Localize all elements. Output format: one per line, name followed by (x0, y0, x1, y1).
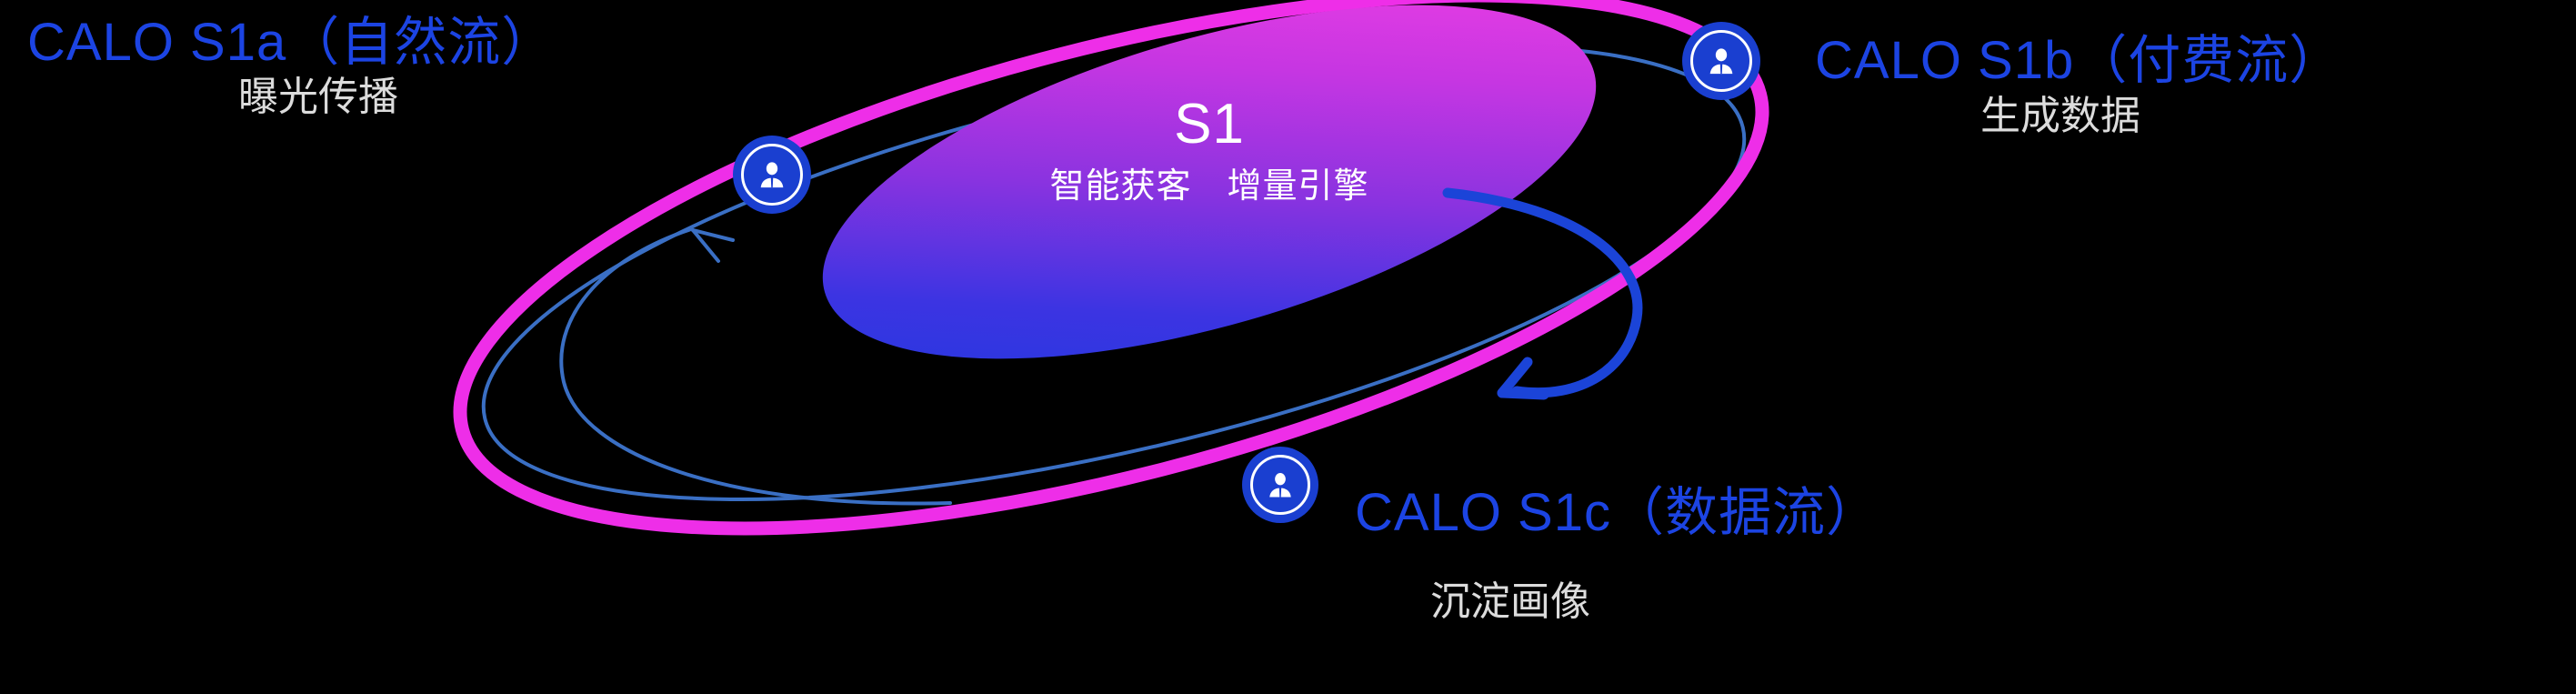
node-s1a[interactable] (733, 136, 811, 214)
core-title: S1 (1000, 96, 1418, 153)
user-business-icon (1703, 43, 1739, 79)
node-s1b[interactable] (1682, 22, 1760, 100)
branch-subtitle-s1c: 沉淀画像 (1430, 582, 1590, 622)
core-label-group: S1 智能获客 增量引擎 (1000, 96, 1418, 204)
node-s1c[interactable] (1242, 447, 1318, 523)
branch-title-s1c: CALO S1c（数据流） (1355, 487, 1879, 539)
core-ellipse (785, 0, 1633, 430)
core-tagline: 智能获客 增量引擎 (1000, 169, 1418, 204)
branch-title-s1a: CALO S1a（自然流） (27, 16, 555, 69)
branch-title-s1b: CALO S1b（付费流） (1815, 35, 2342, 87)
user-business-icon (1263, 468, 1298, 502)
user-business-icon (754, 156, 790, 193)
diagram-canvas: S1 智能获客 增量引擎 CALO S1a（自然流） 曝光传播 CALO S1b… (0, 0, 2576, 694)
branch-subtitle-s1b: 生成数据 (1980, 96, 2140, 136)
branch-subtitle-s1a: 曝光传播 (238, 77, 398, 117)
